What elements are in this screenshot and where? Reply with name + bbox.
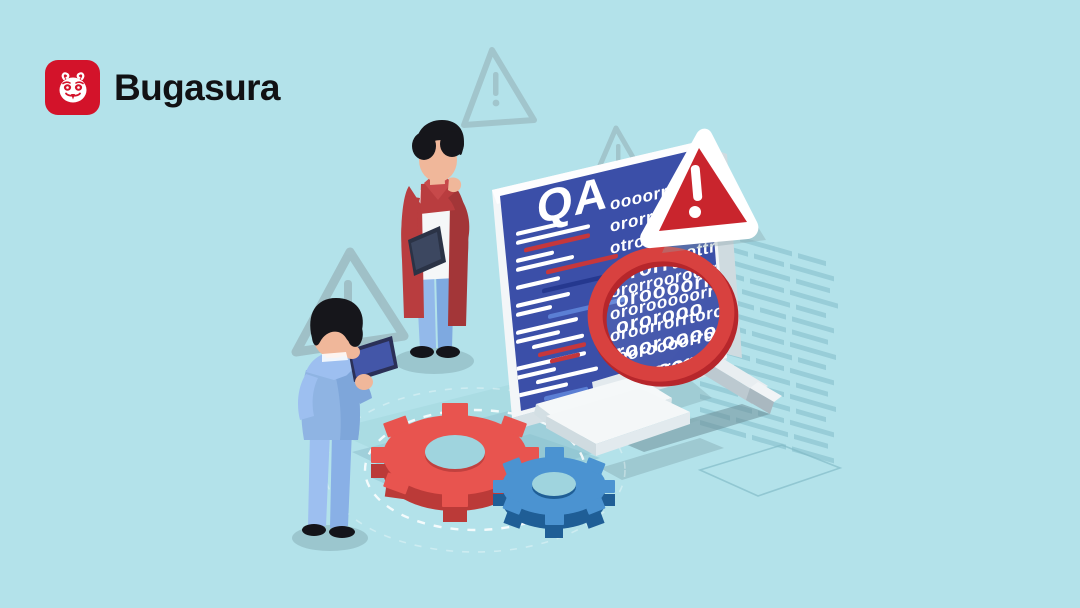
gear-blue [493, 447, 615, 538]
person-standing-shadow [394, 348, 474, 374]
person-tablet-hand-right [355, 374, 373, 390]
gear-red-hub-hole [425, 435, 485, 469]
brand-name: Bugasura [114, 69, 280, 106]
alert-exclamation-dot [689, 206, 701, 218]
bugasura-mascot-icon [53, 68, 93, 108]
bugasura-logo-mark[interactable] [45, 60, 100, 115]
illustration-canvas: QA [0, 0, 1080, 608]
gear-blue-hub-hole [532, 472, 576, 496]
brand-lockup[interactable]: Bugasura [45, 60, 280, 115]
